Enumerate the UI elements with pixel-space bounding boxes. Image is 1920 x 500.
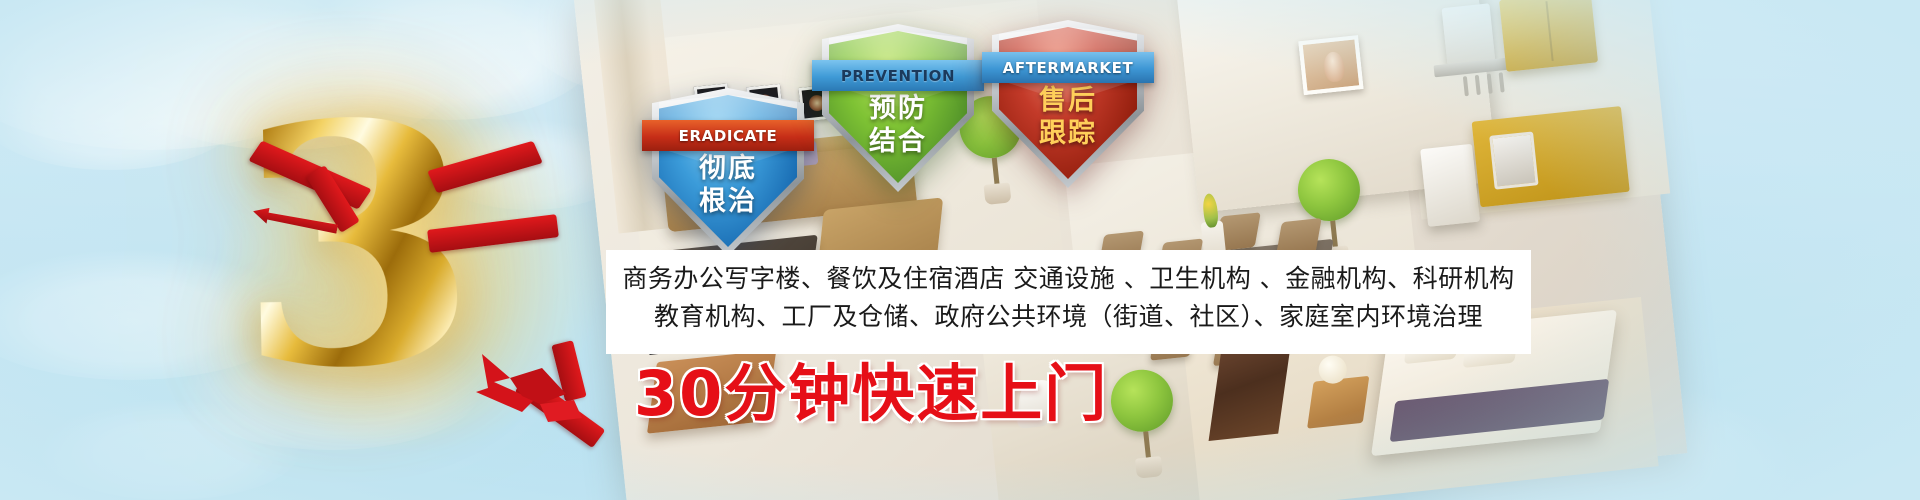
shield-chinese-line-1: 预防 bbox=[822, 92, 974, 125]
shield-chinese-text: 预防 结合 bbox=[822, 92, 974, 158]
shield-english-label: PREVENTION bbox=[841, 67, 955, 85]
red-ribbon-arrow-icon bbox=[470, 348, 590, 426]
shield-sash: PREVENTION bbox=[812, 60, 984, 91]
shield-badge-aftermarket: 售后 跟踪 AFTERMARKET bbox=[992, 20, 1144, 188]
service-scope-line-2: 教育机构、工厂及仓储、政府公共环境（街道、社区）、家庭室内环境治理 bbox=[606, 298, 1531, 336]
shield-badge-prevention: 预防 结合 PREVENTION bbox=[822, 24, 974, 192]
shield-chinese-line-2: 结合 bbox=[822, 125, 974, 158]
shield-chinese-line-2: 根治 bbox=[652, 185, 804, 218]
shield-chinese-line-1: 售后 bbox=[992, 84, 1144, 117]
shield-chinese-text: 彻底 根治 bbox=[652, 152, 804, 218]
shield-english-label: AFTERMARKET bbox=[1003, 59, 1134, 77]
shield-chinese-text: 售后 跟踪 bbox=[992, 84, 1144, 150]
shield-chinese-line-1: 彻底 bbox=[652, 152, 804, 185]
service-scope-panel: 商务办公写字楼、餐饮及住宿酒店 交通设施 、卫生机构 、金融机构、科研机构 教育… bbox=[606, 250, 1531, 354]
service-scope-line-1: 商务办公写字楼、餐饮及住宿酒店 交通设施 、卫生机构 、金融机构、科研机构 bbox=[606, 260, 1531, 298]
shield-sash: ERADICATE bbox=[642, 120, 814, 151]
promo-banner: 3 彻底 根治 ERADICATE 预防 结合 bbox=[0, 0, 1920, 500]
headline-text: 30分钟快速上门 bbox=[634, 359, 1108, 429]
shield-badge-eradicate: 彻底 根治 ERADICATE bbox=[652, 88, 804, 256]
shield-chinese-line-2: 跟踪 bbox=[992, 117, 1144, 150]
shield-english-label: ERADICATE bbox=[679, 127, 778, 145]
shield-sash: AFTERMARKET bbox=[982, 52, 1154, 83]
